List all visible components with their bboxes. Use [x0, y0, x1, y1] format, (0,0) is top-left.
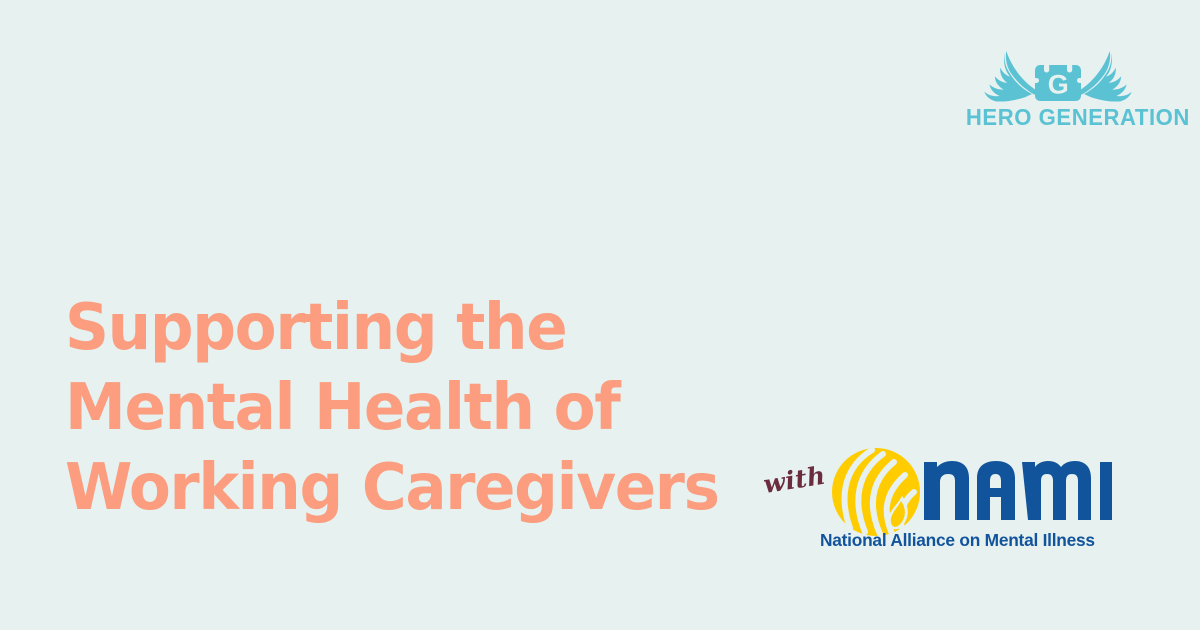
nami-flame-circle-icon [828, 444, 924, 540]
headline-line-1: Supporting the [65, 288, 772, 368]
nami-partner-lockup[interactable]: with [762, 438, 1112, 560]
winged-g-badge-icon: G [960, 48, 1156, 106]
nami-wordmark [922, 442, 1112, 524]
hero-generation-wordmark: HERO GENERATION [966, 104, 1150, 131]
page-title: Supporting the Mental Health of Working … [65, 288, 805, 528]
hero-generation-logo[interactable]: G HERO GENERATION [960, 48, 1156, 140]
headline-line-3: Working Caregivers [65, 448, 772, 528]
nami-tagline: National Alliance on Mental Illness [820, 530, 1108, 551]
with-label: with [761, 461, 827, 499]
headline-line-2: Mental Health of [65, 368, 772, 448]
social-card-canvas: G HERO GENERATION Supporting the Mental … [0, 0, 1200, 630]
svg-text:G: G [1048, 69, 1069, 99]
